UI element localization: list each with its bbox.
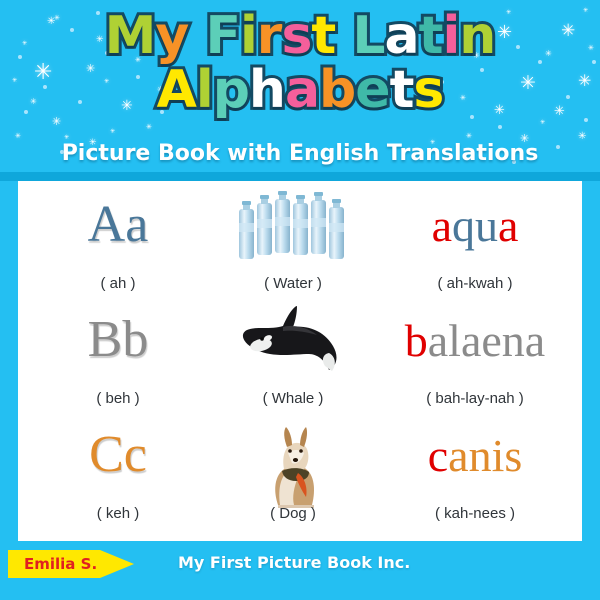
- image-caption: ( Dog ): [218, 505, 368, 522]
- sparkle-icon: ✳: [52, 116, 61, 127]
- image-cell: ( Dog ): [218, 415, 368, 530]
- title-block: My First Latin Alphabets: [0, 10, 600, 116]
- title-char: a: [285, 60, 319, 120]
- sparkle-icon: ✳: [15, 133, 21, 140]
- word-segment: anis: [448, 430, 522, 481]
- sparkle-icon: ✳: [466, 133, 472, 140]
- letter-cell: Aa ( ah ): [18, 185, 218, 300]
- sparkle-dot-icon: [498, 125, 502, 129]
- author-name: Emilia S.: [8, 555, 97, 573]
- letter-cell: Cc ( keh ): [18, 415, 218, 530]
- word-cell: canis ( kah-nees ): [368, 415, 582, 530]
- sparkle-icon: ✳: [540, 120, 545, 126]
- title-char: i: [240, 6, 257, 66]
- word-segment: a: [432, 200, 452, 251]
- collie-dog-photo: [254, 419, 332, 516]
- sparkle-dot-icon: [584, 118, 588, 122]
- alphabet-row: Bb ( beh ) ( Whale ) balaena: [18, 300, 582, 415]
- latin-word: canis: [428, 433, 523, 479]
- sparkle-icon: ✳: [110, 129, 115, 135]
- title-char: t: [311, 6, 335, 66]
- image-caption: ( Whale ): [218, 390, 368, 407]
- title-char: l: [196, 60, 213, 120]
- letter-glyph: Aa: [88, 199, 149, 251]
- word-segment: b: [405, 315, 428, 366]
- water-bottles-photo: [237, 189, 349, 268]
- image-cell: ( Whale ): [218, 300, 368, 415]
- title-char: t: [390, 60, 414, 120]
- letter-glyph: Cc: [89, 429, 147, 481]
- title-char: s: [413, 60, 443, 120]
- title-char: M: [105, 6, 156, 66]
- letter-caption: ( ah ): [18, 275, 218, 292]
- content-panel: Aa ( ah ): [18, 181, 582, 541]
- letter-cell: Bb ( beh ): [18, 300, 218, 415]
- word-segment: c: [428, 430, 448, 481]
- word-caption: ( kah-nees ): [368, 505, 582, 522]
- title-char: t: [419, 6, 443, 66]
- title-char: A: [157, 60, 196, 120]
- image-cell: ( Water ): [218, 185, 368, 300]
- orca-whale-photo: [237, 304, 349, 379]
- sparkle-icon: ✳: [146, 124, 152, 131]
- title-char: F: [205, 6, 240, 66]
- title-char: [335, 6, 352, 66]
- letter-caption: ( keh ): [18, 505, 218, 522]
- title-char: n: [459, 6, 495, 66]
- image-caption: ( Water ): [218, 275, 368, 292]
- title-char: L: [352, 6, 384, 66]
- title-char: y: [155, 6, 188, 66]
- alphabet-row: Aa ( ah ): [18, 185, 582, 300]
- title-line-1: My First Latin: [0, 10, 600, 62]
- footer-bar: Emilia S. My First Picture Book Inc.: [0, 541, 600, 600]
- word-segment: alaena: [428, 315, 545, 366]
- latin-word: balaena: [405, 318, 545, 364]
- title-char: a: [385, 6, 419, 66]
- header-divider-bar: [0, 172, 600, 181]
- letter-glyph: Bb: [88, 314, 149, 366]
- title-line-2: Alphabets: [0, 64, 600, 116]
- letter-caption: ( beh ): [18, 390, 218, 407]
- word-segment: qu: [452, 200, 498, 251]
- latin-word: aqua: [432, 203, 519, 249]
- title-char: b: [319, 60, 355, 120]
- word-cell: balaena ( bah-lay-nah ): [368, 300, 582, 415]
- title-char: e: [355, 60, 389, 120]
- subtitle: Picture Book with English Translations: [0, 141, 600, 166]
- title-char: h: [249, 60, 285, 120]
- word-cell: aqua ( ah-kwah ): [368, 185, 582, 300]
- author-banner: Emilia S.: [8, 550, 134, 578]
- title-char: s: [281, 6, 311, 66]
- word-segment: a: [498, 200, 518, 251]
- title-char: r: [257, 6, 282, 66]
- title-char: i: [442, 6, 459, 66]
- publisher-name: My First Picture Book Inc.: [178, 553, 410, 572]
- book-cover: ✳✳✳✳✳✳✳✳✳✳✳✳✳✳✳✳✳✳✳✳✳✳✳✳✳✳✳✳✳✳✳✳✳✳✳✳✳ My…: [0, 0, 600, 600]
- word-caption: ( bah-lay-nah ): [368, 390, 582, 407]
- word-caption: ( ah-kwah ): [368, 275, 582, 292]
- title-char: p: [213, 60, 249, 120]
- alphabet-row: Cc ( keh ): [18, 415, 582, 530]
- title-char: [188, 6, 205, 66]
